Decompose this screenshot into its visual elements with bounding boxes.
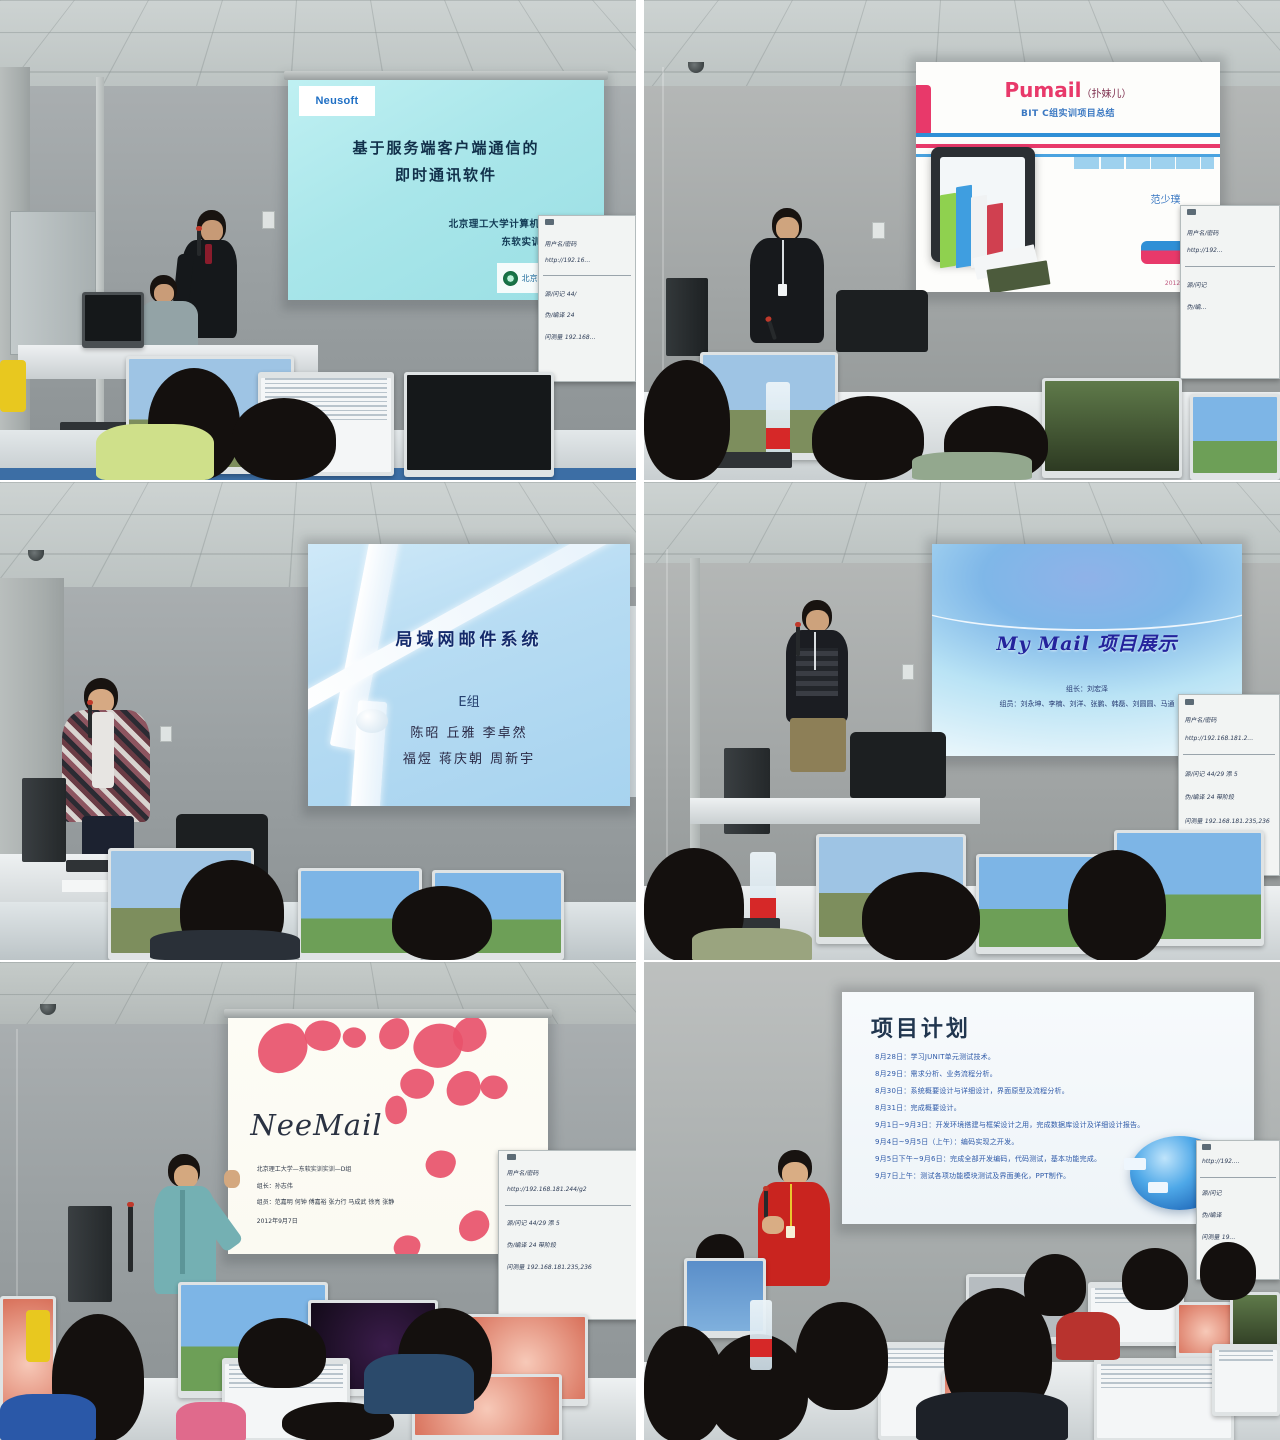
monitor-row2-4 <box>1212 1344 1280 1416</box>
slide-title-suffix: （扑妹儿） <box>1081 89 1131 100</box>
presenter-hand <box>762 1216 784 1234</box>
slide-line4: 2012年9月7日 <box>257 1216 298 1225</box>
audience-shoulders <box>916 1392 1068 1440</box>
presenter-face <box>806 610 829 632</box>
slide-title: My Mail 项目展示 <box>932 629 1242 656</box>
whiteboard-line: 源/问记 44/29 添 5 <box>1184 769 1238 778</box>
panel-6: 项目计划 8月28日：学习JUNIT单元测试技术。 8月29日：需求分析、业务流… <box>644 962 1280 1440</box>
board-clip-icon <box>1187 209 1196 215</box>
projection-screen-6: 项目计划 8月28日：学习JUNIT单元测试技术。 8月29日：需求分析、业务流… <box>842 992 1254 1224</box>
slide-presenter-name: 范少璞 <box>1150 191 1180 206</box>
light-switch <box>872 222 885 239</box>
presenter-inner-tee <box>92 712 114 788</box>
petal-icon <box>339 1023 370 1054</box>
presenter-face <box>174 1165 198 1188</box>
slide-6: 项目计划 8月28日：学习JUNIT单元测试技术。 8月29日：需求分析、业务流… <box>842 992 1254 1224</box>
petal-icon <box>476 1069 510 1103</box>
bit-emblem-icon <box>503 271 518 286</box>
slide-arc-graphic <box>932 557 1242 631</box>
yellow-bottle <box>26 1310 50 1362</box>
audience-shoulders <box>150 930 300 960</box>
slide-shelf-graphic <box>1074 157 1214 169</box>
whiteboard-line: 伪/编译 24 <box>544 310 575 319</box>
audience-shoulders <box>364 1354 474 1414</box>
computer-tower <box>22 778 66 862</box>
audience-shoulders <box>1056 1312 1120 1360</box>
presenter-shorts <box>790 718 846 772</box>
id-badge <box>786 1226 795 1238</box>
shirt-placket <box>205 244 212 264</box>
panel-2: Pumail（扑妹儿） BIT C组实训项目总结 范少璞 2012/8/17 用 <box>644 0 1280 480</box>
id-badge <box>778 284 787 296</box>
whiteboard-line: http://192.… <box>1201 1158 1240 1165</box>
slide-bullet: 9月1日~9月3日：开发环境搭建与框架设计之用，完成数据库设计及详细设计报告。 <box>875 1120 1229 1130</box>
whiteboard-line: 源/问记 44/29 添 5 <box>507 1218 561 1227</box>
slide-title: Pumail <box>1005 78 1082 102</box>
audience-head <box>862 872 980 960</box>
monitor-student-2 <box>1042 378 1182 478</box>
computer-tower <box>666 278 708 356</box>
presenter-torso <box>750 238 824 343</box>
board-clip-icon <box>1185 699 1194 705</box>
presenter-2 <box>746 208 828 368</box>
monitor-front <box>82 292 144 348</box>
slide-title-line1: 基于服务端客户端通信的 <box>288 137 604 158</box>
slide-members-line1: 陈昭 丘雅 李卓然 <box>308 722 630 741</box>
whiteboard-line: http://192.16… <box>544 257 590 264</box>
whiteboard-line: 用户名/密码 <box>544 239 577 248</box>
petal-icon <box>423 1146 459 1182</box>
slide-bullet: 8月30日：系统概要设计与详细设计，界面原型及流程分析。 <box>875 1086 1229 1096</box>
board-clip-icon <box>507 1154 516 1160</box>
petal-icon <box>442 1068 485 1109</box>
books-graphic-icon <box>937 166 1059 267</box>
audience-head <box>1024 1254 1086 1316</box>
presenter-face <box>776 217 799 240</box>
projection-screen-2: Pumail（扑妹儿） BIT C组实训项目总结 范少璞 2012/8/17 <box>916 62 1220 292</box>
microphone-icon <box>197 230 201 256</box>
slide-title: NeeMail <box>250 1108 382 1142</box>
whiteboard-line: 源/问记 44/ <box>544 289 577 298</box>
photo-collage: Neusoft 基于服务端客户端通信的 即时通讯软件 北京理工大学计算机学院 东… <box>0 0 1280 1440</box>
whiteboard-2: 用户名/密码 http://192… 源/问记 伪/编… <box>1180 205 1280 379</box>
whiteboard-line: 伪/编译 24 带阶段 <box>1184 792 1235 801</box>
panel-5: NeeMail 北京理工大学—东软实训实训—D组 组长：孙志伟 组员：范嘉明 何… <box>0 962 636 1440</box>
slide-title-line2: 即时通讯软件 <box>288 164 604 185</box>
petal-icon <box>392 1233 422 1254</box>
screen-roller <box>284 71 608 80</box>
audience-head <box>1122 1248 1188 1310</box>
audience-head <box>392 886 492 960</box>
slide-group: E组 <box>308 691 630 710</box>
audience-head <box>644 360 730 480</box>
yellow-object <box>0 360 26 412</box>
whiteboard-line: 问测量 192.168.181.235,236 <box>507 1262 593 1271</box>
neusoft-logo: Neusoft <box>299 86 375 117</box>
light-switch <box>262 211 275 229</box>
petal-icon <box>454 1206 495 1245</box>
slide-bullet: 8月28日：学习JUNIT单元测试技术。 <box>875 1052 1229 1062</box>
microphone-icon <box>796 626 800 656</box>
monitor-student-3 <box>1190 394 1280 480</box>
whiteboard-line: 源/问记 <box>1201 1188 1222 1197</box>
computer-tower <box>68 1206 112 1302</box>
slide-line2: 组长：孙志伟 <box>257 1181 293 1190</box>
board-clip-icon <box>545 219 554 225</box>
lanyard <box>790 1184 792 1228</box>
whiteboard-line: 问测量 192.168… <box>544 332 596 341</box>
slide-3: 局域网邮件系统 E组 陈昭 丘雅 李卓然 福煜 蒋庆朝 周新宇 <box>308 544 630 806</box>
whiteboard-line: 源/问记 <box>1186 280 1207 289</box>
audience-shoulders <box>692 928 812 960</box>
microphone-stand <box>128 1206 133 1272</box>
audience-shoulders <box>912 452 1032 480</box>
microphone-icon <box>764 1190 768 1218</box>
whiteboard-line: 用户名/密码 <box>1184 715 1217 724</box>
audience-head <box>232 398 336 480</box>
lanyard <box>782 240 784 286</box>
slide-bullet: 8月31日：完成概要设计。 <box>875 1103 1229 1113</box>
whiteboard-line: 问测量 192.168.181.235,236 <box>1184 816 1270 825</box>
projection-screen-3: 局域网邮件系统 E组 陈昭 丘雅 李卓然 福煜 蒋庆朝 周新宇 <box>308 544 630 806</box>
slide-2: Pumail（扑妹儿） BIT C组实训项目总结 范少璞 2012/8/17 <box>916 62 1220 292</box>
monitor-student-2 <box>404 372 554 477</box>
slide-line1: 北京理工大学—东软实训实训—D组 <box>257 1164 352 1173</box>
slide-title: 项目计划 <box>871 1011 971 1043</box>
presenter-hand <box>224 1170 240 1188</box>
shirt-placket <box>180 1190 185 1274</box>
whiteboard-line: 伪/编… <box>1186 302 1207 311</box>
presenter-6 <box>756 1150 842 1320</box>
panel-1: Neusoft 基于服务端客户端通信的 即时通讯软件 北京理工大学计算机学院 东… <box>0 0 636 480</box>
whiteboard-line: 用户名/密码 <box>507 1168 540 1177</box>
whiteboard-line: 伪/编译 24 带阶段 <box>507 1240 558 1249</box>
petal-icon <box>251 1018 314 1079</box>
audience-head <box>1068 850 1166 960</box>
neusoft-logo-text: Neusoft <box>315 95 358 107</box>
lanyard <box>814 632 816 670</box>
presenter-face <box>201 220 223 242</box>
whiteboard-line: 问测量 19… <box>1201 1232 1236 1241</box>
microphone-icon <box>88 704 92 738</box>
panel-4: My Mail 项目展示 组长：刘宏泽 组员：刘永坤、李楠、刘洋、张鹏、韩磊、刘… <box>644 482 1280 960</box>
office-chair <box>836 290 928 352</box>
slide-title-row: Pumail（扑妹儿） <box>916 78 1220 102</box>
light-switch <box>902 664 914 680</box>
office-chair <box>850 732 946 798</box>
presenter-4 <box>780 600 856 782</box>
front-desk <box>690 798 980 824</box>
audience-head <box>238 1318 326 1388</box>
slide-line3: 组员：范嘉明 何钟 傅嘉裕 张力行 马成武 徐亮 张静 <box>257 1197 394 1206</box>
slide-members-line2: 福煜 蒋庆朝 周新宇 <box>308 748 630 767</box>
audience-head <box>796 1302 888 1410</box>
petal-icon <box>382 1094 410 1126</box>
water-bottle <box>750 1300 772 1370</box>
audience-head <box>1200 1242 1256 1300</box>
slide-leader-line: 组长：刘宏泽 <box>932 684 1242 694</box>
whiteboard-line: http://192.168.181.244/g2 <box>507 1186 588 1193</box>
door-frame <box>96 77 104 480</box>
slide-subtitle: BIT C组实训项目总结 <box>916 106 1220 119</box>
whiteboard-5: 用户名/密码 http://192.168.181.244/g2 源/问记 44… <box>498 1150 636 1320</box>
presenter-shirt-print <box>796 648 838 696</box>
whiteboard-1: 用户名/密码 http://192.16… 源/问记 44/ 伪/编译 24 问… <box>538 215 636 382</box>
petal-icon <box>373 1018 415 1055</box>
presenter-3 <box>58 678 154 868</box>
audience-shoulders <box>96 424 214 480</box>
screen-roller <box>224 1009 552 1018</box>
whiteboard-line: 用户名/密码 <box>1186 228 1219 237</box>
panel-3: 局域网邮件系统 E组 陈昭 丘雅 李卓然 福煜 蒋庆朝 周新宇 <box>0 482 636 960</box>
whiteboard-line: 伪/编译 <box>1201 1210 1222 1219</box>
audience-head <box>812 396 924 480</box>
audience-shoulders <box>0 1394 96 1440</box>
slide-title: 局域网邮件系统 <box>308 625 630 650</box>
whiteboard-line: http://192… <box>1186 247 1223 254</box>
slide-bullet: 8月29日：需求分析、业务流程分析。 <box>875 1069 1229 1079</box>
whiteboard-line: http://192.168.181.2… <box>1184 735 1253 742</box>
board-clip-icon <box>1202 1144 1211 1150</box>
audience-shoulders <box>176 1402 246 1440</box>
light-switch <box>160 726 172 742</box>
